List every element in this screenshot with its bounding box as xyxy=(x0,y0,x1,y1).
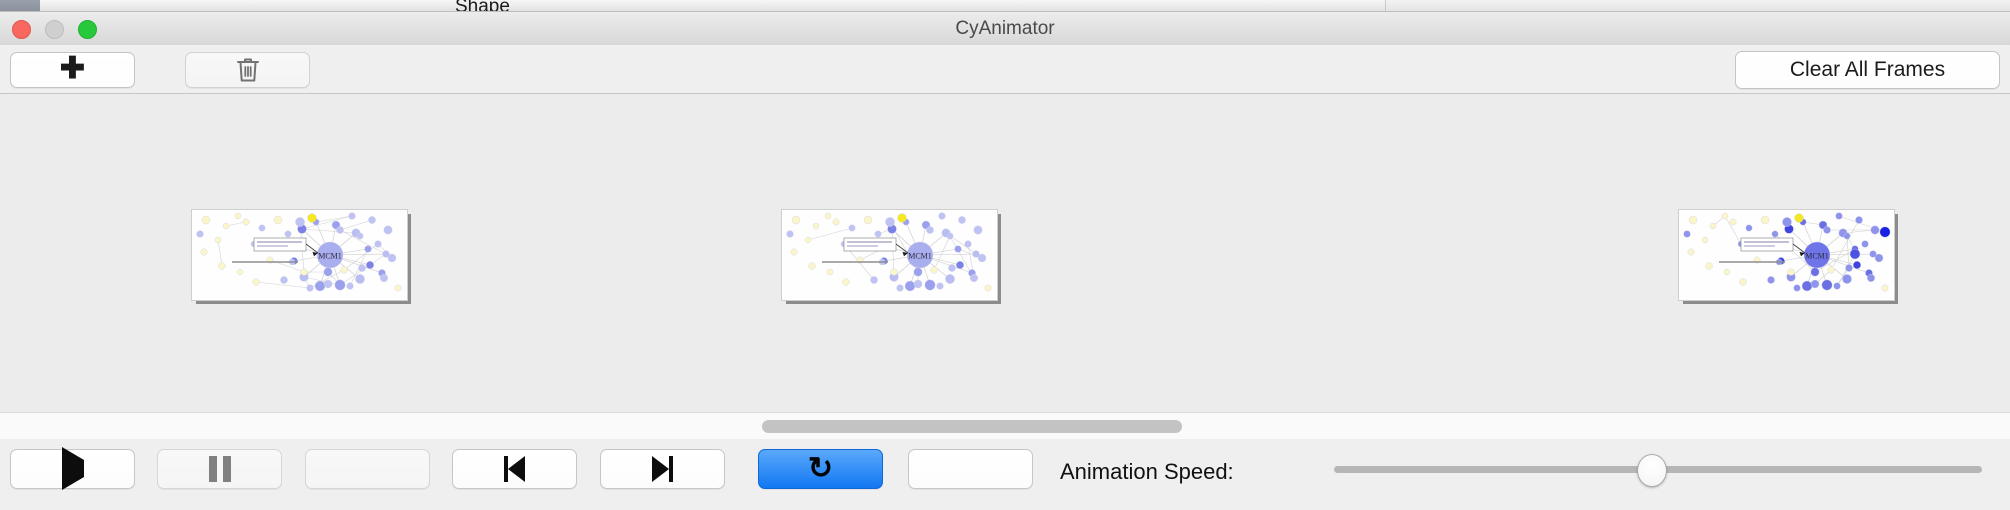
clear-all-frames-label: Clear All Frames xyxy=(1790,58,1945,82)
plus-icon: ✚ xyxy=(60,54,85,84)
skip-to-end-button[interactable] xyxy=(600,449,725,489)
add-frame-button[interactable]: ✚ xyxy=(10,52,135,88)
stop-button xyxy=(305,449,430,489)
frame-thumbnail-2[interactable]: MCM1 xyxy=(781,209,1001,304)
frame-thumbnail-1[interactable]: MCM1 xyxy=(191,209,411,304)
animation-speed-label: Animation Speed: xyxy=(1060,459,1234,485)
frame-network-preview[interactable]: MCM1 xyxy=(191,209,408,301)
frames-toolbar: ✚ Clear All Frames xyxy=(0,45,2010,94)
clear-all-frames-button[interactable]: Clear All Frames xyxy=(1735,51,2000,89)
skip-forward-icon xyxy=(652,456,673,482)
loop-button[interactable]: ↻ xyxy=(758,449,883,489)
pause-icon xyxy=(209,456,231,482)
frame-network-preview[interactable]: MCM1 xyxy=(1678,209,1895,301)
svg-text:MCM1: MCM1 xyxy=(1805,252,1829,261)
title-bar: CyAnimator xyxy=(0,12,2010,46)
skip-to-start-button[interactable] xyxy=(452,449,577,489)
animation-speed-slider[interactable] xyxy=(1334,449,1982,489)
scrollbar-thumb[interactable] xyxy=(762,420,1182,433)
frame-network-preview[interactable]: MCM1 xyxy=(781,209,998,301)
slider-thumb[interactable] xyxy=(1637,454,1667,487)
record-button[interactable] xyxy=(908,449,1033,489)
svg-text:MCM1: MCM1 xyxy=(908,252,932,261)
loop-icon: ↻ xyxy=(808,454,833,484)
network-graph-icon: MCM1 xyxy=(1679,210,1894,300)
timeline-scrollbar[interactable] xyxy=(0,412,2010,440)
svg-text:MCM1: MCM1 xyxy=(318,252,342,261)
network-graph-icon: MCM1 xyxy=(782,210,997,300)
delete-frame-button[interactable] xyxy=(185,52,310,88)
cyanimator-window: Shape CyAnimator ✚ Clear All Frames xyxy=(0,0,2010,510)
timeline-panel[interactable]: MCM1 MCM1 MCM1 2131415161718 Seconds xyxy=(0,94,2010,400)
play-icon xyxy=(62,460,84,478)
skip-back-icon xyxy=(504,456,525,482)
play-button[interactable] xyxy=(10,449,135,489)
pause-button xyxy=(157,449,282,489)
player-controls-bar: ↻ Animation Speed: xyxy=(0,439,2010,510)
window-title: CyAnimator xyxy=(0,12,2010,45)
frame-thumbnail-3[interactable]: MCM1 xyxy=(1678,209,1898,304)
network-graph-icon: MCM1 xyxy=(192,210,407,300)
trash-icon xyxy=(236,56,260,84)
